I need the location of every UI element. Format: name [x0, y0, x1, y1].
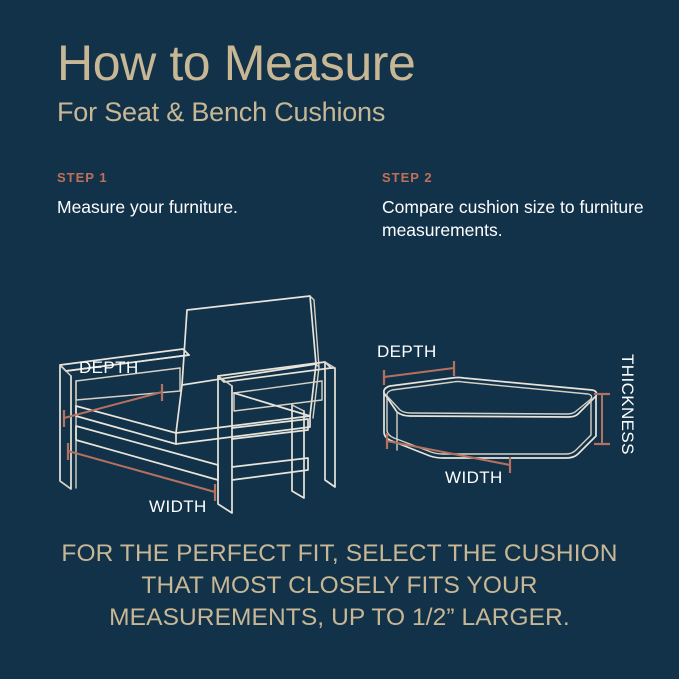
chair-front-rail: [76, 426, 218, 480]
cushion-width-label: WIDTH: [445, 468, 503, 487]
step-1-kicker: STEP 1: [57, 170, 357, 185]
step-2-body: Compare cushion size to furniture measur…: [382, 196, 652, 243]
footer: FOR THE PERFECT FIT, SELECT THE CUSHION …: [0, 538, 679, 634]
cushion-diagram: DEPTH WIDTH THICKNESS: [370, 340, 635, 485]
cushion-thickness-label: THICKNESS: [618, 354, 637, 455]
cushion-depth-label: DEPTH: [377, 342, 437, 361]
step-1-body: Measure your furniture.: [57, 196, 357, 219]
chair-diagram: DEPTH WIDTH: [46, 248, 366, 513]
infographic-page: How to Measure For Seat & Bench Cushions…: [0, 0, 679, 679]
chair-width-label: WIDTH: [149, 497, 207, 516]
chair-depth-label: DEPTH: [79, 358, 139, 377]
cushion-width-measure: [387, 433, 510, 473]
cushion-depth-measure: [384, 361, 454, 385]
chair-width-measure: [68, 443, 215, 501]
cushion-side-face: [384, 393, 596, 458]
step-2-block: STEP 2 Compare cushion size to furniture…: [382, 170, 652, 243]
chair-illustration-svg: DEPTH WIDTH: [46, 248, 366, 513]
chair-depth-measure: [64, 384, 162, 427]
header: How to Measure For Seat & Bench Cushions: [57, 38, 637, 126]
cushion-top-face: [384, 378, 597, 418]
page-title: How to Measure: [57, 38, 637, 88]
footer-text: FOR THE PERFECT FIT, SELECT THE CUSHION …: [0, 538, 679, 634]
cushion-illustration-svg: DEPTH WIDTH THICKNESS: [370, 340, 635, 485]
step-1-block: STEP 1 Measure your furniture.: [57, 170, 357, 219]
step-2-kicker: STEP 2: [382, 170, 652, 185]
page-subtitle: For Seat & Bench Cushions: [57, 99, 637, 126]
